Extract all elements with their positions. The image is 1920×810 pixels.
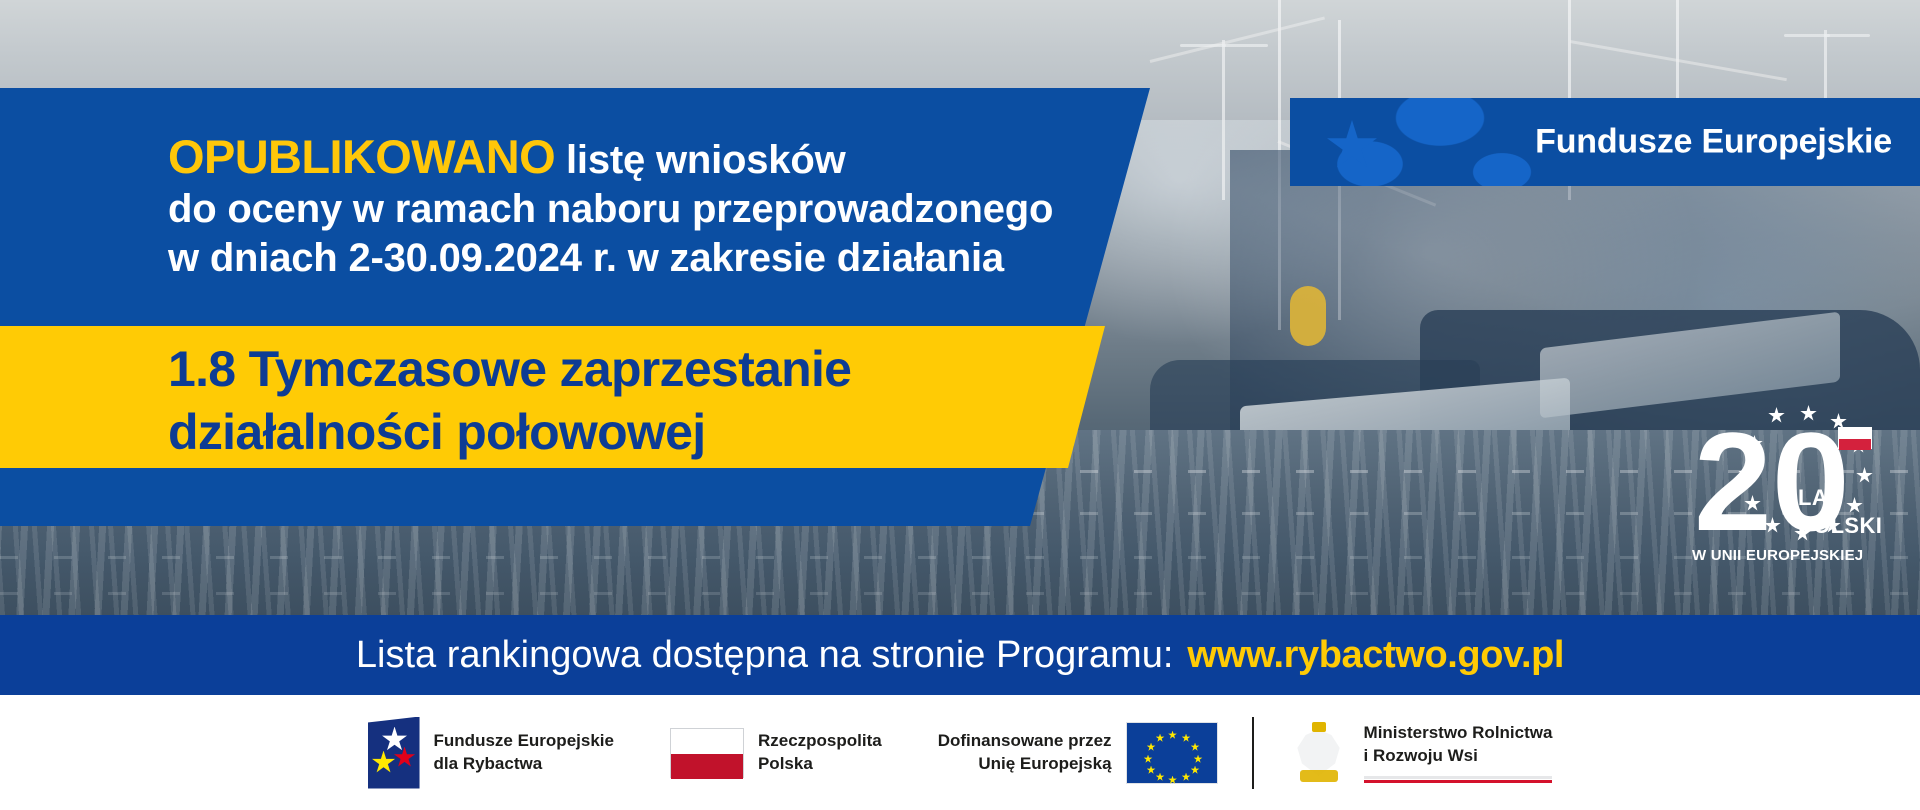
- anniversary-lat-label: LAT: [1798, 485, 1840, 511]
- fe-badge-label: Fundusze Europejskie: [1535, 123, 1892, 162]
- fundusze-europejskie-badge: Fundusze Europejskie: [1290, 98, 1920, 186]
- lamp-arm-icon: [1222, 44, 1268, 47]
- footer-logo-bar: Fundusze Europejskie dla Rybactwa Rzeczp…: [0, 695, 1920, 810]
- footer-divider: [1252, 717, 1254, 789]
- eu-funding-line-1: Dofinansowane przez: [938, 730, 1112, 753]
- rp-label: Rzeczpospolita Polska: [758, 730, 882, 776]
- measure-line-1: 1.8 Tymczasowe zaprzestanie: [168, 338, 1168, 401]
- poland-flag-icon: [670, 728, 744, 778]
- lamp-post-icon: [1222, 40, 1225, 200]
- eu-funding-line-2: Unię Europejską: [938, 753, 1112, 776]
- eu-star-icon: [1856, 467, 1873, 484]
- anniversary-emblem: 20 LAT POLSKI W UNII EUROPEJSKIEJ: [1690, 405, 1910, 580]
- headline-line-2: do oceny w ramach naboru przeprowadzoneg…: [168, 185, 1068, 234]
- callout-strip: Lista rankingowa dostępna na stronie Pro…: [0, 615, 1920, 695]
- logo-fundusze-europejskie-dla-rybactwa: Fundusze Europejskie dla Rybactwa: [368, 717, 614, 789]
- rp-line-1: Rzeczpospolita: [758, 730, 882, 753]
- promo-banner: OPUBLIKOWANO listę wniosków do oceny w r…: [0, 0, 1920, 810]
- logo-dofinansowane-przez-ue: Dofinansowane przez Unię Europejską: [938, 722, 1218, 784]
- rp-line-2: Polska: [758, 753, 882, 776]
- eu-funding-label: Dofinansowane przez Unię Europejską: [938, 730, 1112, 776]
- headline-line-1-rest: listę wniosków: [555, 138, 845, 182]
- headline-line-3: w dniach 2-30.09.2024 r. w zakresie dzia…: [168, 234, 1068, 283]
- fish-crate-icon: [1290, 286, 1326, 346]
- eu-flag-icon: [1126, 722, 1218, 784]
- fe-stars-motif-icon: [1290, 98, 1540, 186]
- anniversary-subtitle: W UNII EUROPEJSKIEJ: [1692, 547, 1863, 564]
- ministry-rule: [1364, 776, 1553, 783]
- wave-crest: [0, 592, 1920, 595]
- polish-eagle-icon: [1288, 718, 1350, 788]
- headline-line-1: OPUBLIKOWANO listę wniosków: [168, 128, 1068, 185]
- logo-ministerstwo-rolnictwa: Ministerstwo Rolnictwa i Rozwoju Wsi: [1288, 718, 1553, 788]
- headline-highlight: OPUBLIKOWANO: [168, 130, 555, 183]
- headline-text-block: OPUBLIKOWANO listę wniosków do oceny w r…: [168, 128, 1068, 283]
- measure-line-2: działalności połowowej: [168, 401, 1168, 464]
- lamp-arm-icon: [1824, 34, 1870, 37]
- ministry-line-1: Ministerstwo Rolnictwa: [1364, 722, 1553, 745]
- fe-rybactwa-label: Fundusze Europejskie dla Rybactwa: [434, 730, 614, 776]
- ministry-label: Ministerstwo Rolnictwa i Rozwoju Wsi: [1364, 722, 1553, 783]
- anniversary-number: 20: [1694, 427, 1794, 545]
- fe-rybactwa-line-1: Fundusze Europejskie: [434, 730, 614, 753]
- fundusze-europejskie-star-icon: [368, 717, 420, 789]
- callout-text: Lista rankingowa dostępna na stronie Pro…: [356, 634, 1173, 677]
- ministry-line-2: i Rozwoju Wsi: [1364, 745, 1553, 768]
- logo-rzeczpospolita-polska: Rzeczpospolita Polska: [670, 728, 882, 778]
- anniversary-polski-label: POLSKI: [1798, 513, 1882, 539]
- wave-crest: [0, 556, 1920, 559]
- fe-rybactwa-line-2: dla Rybactwa: [434, 753, 614, 776]
- measure-text-block: 1.8 Tymczasowe zaprzestanie działalności…: [168, 338, 1168, 464]
- callout-url[interactable]: www.rybactwo.gov.pl: [1187, 634, 1564, 677]
